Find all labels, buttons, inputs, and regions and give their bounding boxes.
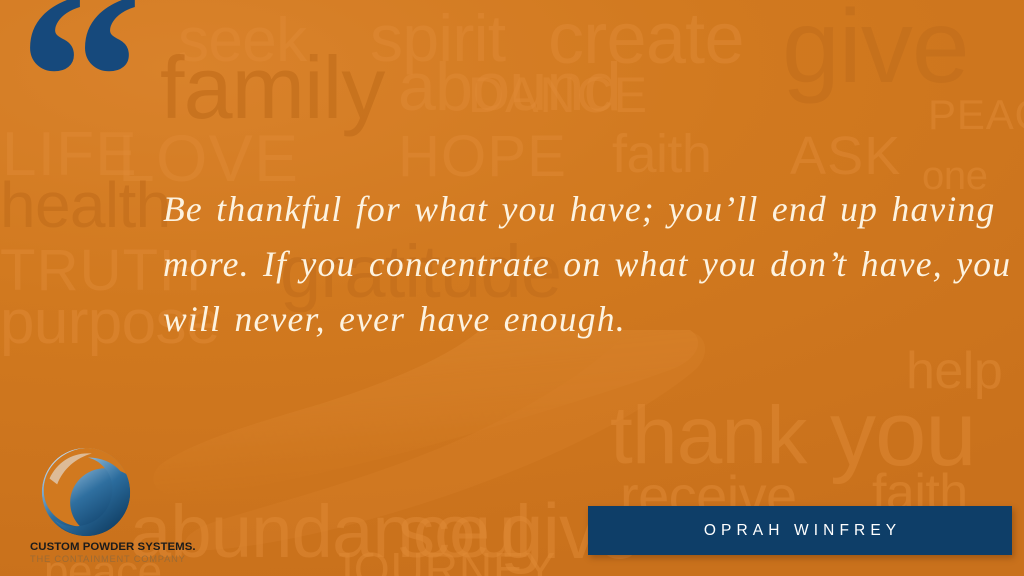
logo-sphere-icon (38, 444, 134, 540)
quote-text: Be thankful for what you have; you’ll en… (163, 182, 1019, 347)
attribution-author-name: OPRAH WINFREY (699, 522, 902, 540)
logo-tagline: THE CONTAINMENT COMPANY (30, 554, 190, 564)
quote-slide: seek.spiritcreategivefamilyaboundDANCEPE… (0, 0, 1024, 576)
attribution-bar: OPRAH WINFREY (588, 506, 1012, 555)
logo-company-name: CUSTOM POWDER SYSTEMS. (30, 541, 190, 553)
opening-quote-mark-icon: “ (18, 0, 138, 204)
company-logo: CUSTOM POWDER SYSTEMS. THE CONTAINMENT C… (30, 444, 190, 564)
